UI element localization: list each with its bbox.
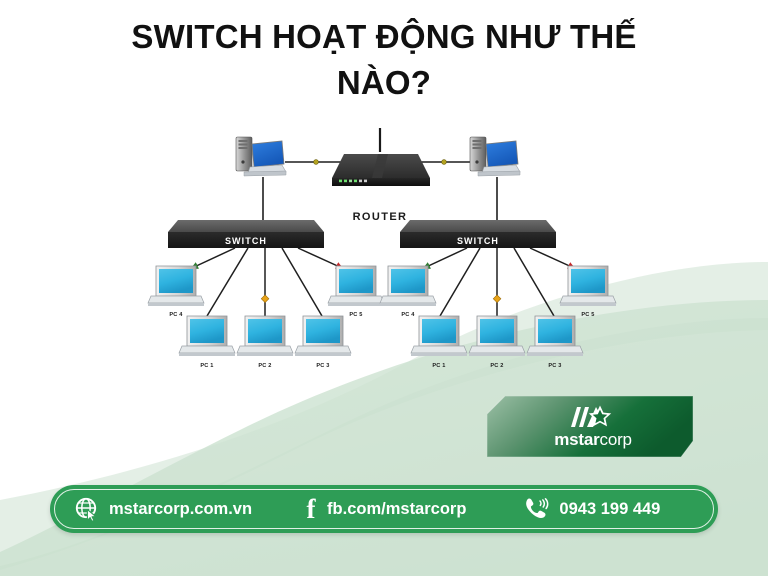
server-left[interactable] xyxy=(236,137,286,176)
laptop-label: PC 1 xyxy=(432,363,445,369)
facebook-text: fb.com/mstarcorp xyxy=(327,500,466,519)
laptop-screen xyxy=(306,319,340,343)
laptop-right-pc1[interactable]: PC 1 xyxy=(411,316,467,369)
cable-left-pc5 xyxy=(298,248,342,268)
laptop-label: PC 3 xyxy=(316,363,329,369)
laptop-base xyxy=(469,353,525,356)
pc-tower xyxy=(236,137,252,171)
right-pc2-node xyxy=(493,295,501,303)
switch-left-label: SWITCH xyxy=(225,236,267,246)
laptop-keyboard xyxy=(527,346,583,353)
laptop-keyboard xyxy=(328,296,384,303)
brand-logo-badge[interactable]: mstarcorp xyxy=(487,396,693,457)
laptop-label: PC 5 xyxy=(581,312,594,318)
page-title: SWITCH HOẠT ĐỘNG NHƯ THẾ NÀO? xyxy=(0,14,768,106)
laptop-left-pc1[interactable]: PC 1 xyxy=(179,316,235,369)
laptop-keyboard xyxy=(179,346,235,353)
laptop-screen xyxy=(571,269,605,293)
laptop-label: PC 1 xyxy=(200,363,213,369)
laptop-screen xyxy=(339,269,373,293)
left-switch-cables xyxy=(192,248,342,316)
router-device[interactable]: ROUTER xyxy=(332,128,430,223)
pc-base xyxy=(244,171,286,176)
laptop-keyboard xyxy=(237,346,293,353)
left-pc2-node xyxy=(261,295,269,303)
laptop-label: PC 2 xyxy=(490,363,503,369)
laptop-base xyxy=(237,353,293,356)
pc-base xyxy=(478,171,520,176)
phone-ringing-icon xyxy=(522,496,550,522)
laptop-keyboard xyxy=(469,346,525,353)
laptop-base xyxy=(527,353,583,356)
switch-right-label: SWITCH xyxy=(457,236,499,246)
laptop-base xyxy=(380,303,436,306)
laptop-right-pc2[interactable]: PC 2 xyxy=(469,316,525,369)
network-diagram: ROUTER xyxy=(130,120,630,380)
brand-name-bold: mstar xyxy=(554,430,599,449)
cable-left-pc4 xyxy=(192,248,235,268)
laptop-base xyxy=(560,303,616,306)
cable-right-pc3 xyxy=(514,248,554,316)
laptop-label: PC 2 xyxy=(258,363,271,369)
laptop-keyboard xyxy=(295,346,351,353)
switch-top xyxy=(400,220,556,232)
laptop-base xyxy=(328,303,384,306)
contact-facebook[interactable]: f fb.com/mstarcorp xyxy=(304,498,466,520)
brand-name-light: corp xyxy=(600,430,632,449)
link-node-right xyxy=(442,160,447,165)
laptop-keyboard xyxy=(560,296,616,303)
website-text: mstarcorp.com.vn xyxy=(109,500,252,519)
laptop-screen xyxy=(480,319,514,343)
laptop-screen xyxy=(538,319,572,343)
laptop-screen xyxy=(248,319,282,343)
laptop-right-pc3[interactable]: PC 3 xyxy=(527,316,583,369)
right-switch-cables xyxy=(424,248,574,316)
pc-monitor xyxy=(252,141,284,167)
cable-right-pc5 xyxy=(530,248,574,268)
laptop-base xyxy=(295,353,351,356)
poster-canvas: SWITCH HOẠT ĐỘNG NHƯ THẾ NÀO? xyxy=(0,0,768,576)
laptop-left-pc5[interactable]: PC 5 xyxy=(328,266,384,318)
brand-wordmark: mstarcorp xyxy=(554,431,632,449)
laptop-screen xyxy=(190,319,224,343)
cable-right-pc4 xyxy=(424,248,467,268)
switch-left[interactable]: SWITCH xyxy=(168,220,324,248)
laptop-screen xyxy=(391,269,425,293)
laptop-keyboard xyxy=(380,296,436,303)
server-right[interactable] xyxy=(470,137,520,176)
laptop-right-pc5[interactable]: PC 5 xyxy=(560,266,616,318)
laptop-left-pc3[interactable]: PC 3 xyxy=(295,316,351,369)
laptop-base xyxy=(148,303,204,306)
laptop-screen xyxy=(159,269,193,293)
laptop-label: PC 4 xyxy=(169,312,183,318)
laptop-left-pc2[interactable]: PC 2 xyxy=(237,316,293,369)
laptop-left-pc4[interactable]: PC 4 xyxy=(148,266,204,318)
laptop-keyboard xyxy=(148,296,204,303)
pc-tower xyxy=(470,137,486,171)
link-node-left xyxy=(314,160,319,165)
laptop-base xyxy=(411,353,467,356)
contact-bar: mstarcorp.com.vn f fb.com/mstarcorp 0943… xyxy=(50,485,718,533)
laptop-keyboard xyxy=(411,346,467,353)
laptop-base xyxy=(179,353,235,356)
facebook-f-icon: f xyxy=(304,498,318,520)
laptop-screen xyxy=(422,319,456,343)
laptop-label: PC 5 xyxy=(349,312,362,318)
router-label: ROUTER xyxy=(353,211,408,223)
laptop-label: PC 4 xyxy=(401,312,415,318)
pc-monitor xyxy=(486,141,518,167)
switch-right[interactable]: SWITCH xyxy=(400,220,556,248)
laptop-right-pc4[interactable]: PC 4 xyxy=(380,266,436,318)
contact-website[interactable]: mstarcorp.com.vn xyxy=(74,496,252,522)
phone-text: 0943 199 449 xyxy=(559,500,660,519)
globe-cursor-icon xyxy=(74,496,100,522)
switch-top xyxy=(168,220,324,232)
m-star-icon xyxy=(570,405,616,429)
laptop-label: PC 3 xyxy=(548,363,561,369)
contact-phone[interactable]: 0943 199 449 xyxy=(522,496,660,522)
cable-left-pc3 xyxy=(282,248,322,316)
